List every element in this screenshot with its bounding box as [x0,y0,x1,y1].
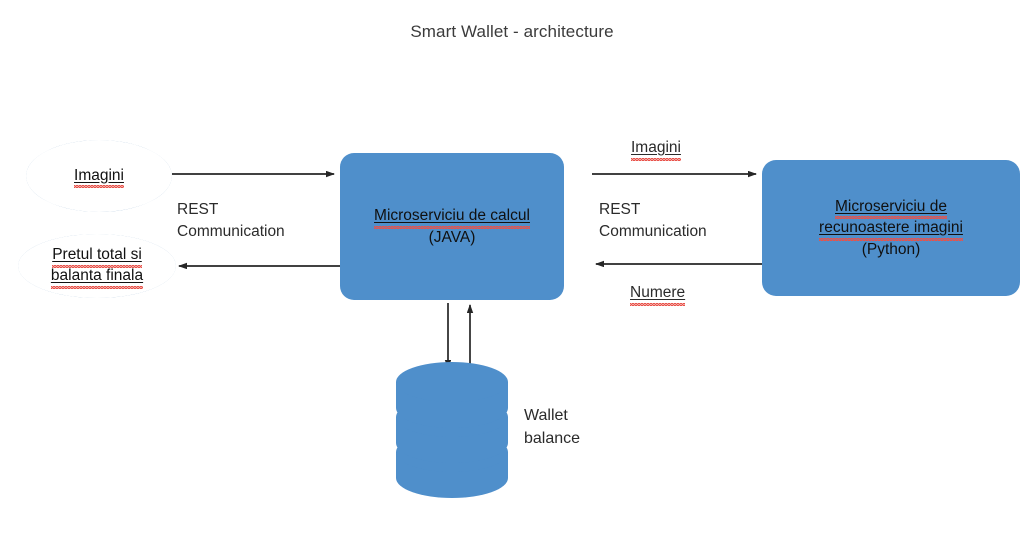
node-box-recognition-service[interactable]: Microserviciu de recunoastere imagini (P… [762,160,1020,296]
box-recog-label-line3: (Python) [862,241,921,258]
ellipse-input-label: Imagini [74,166,124,187]
database-cylinder-icon [396,362,508,498]
page-title: Smart Wallet - architecture [0,22,1024,42]
rest-left-line1: REST [177,199,285,221]
rest-right-line1: REST [599,199,707,221]
box-recog-label-line1: Microserviciu de [835,196,947,217]
node-ellipse-output[interactable]: Pretul total si balanta finala [18,234,176,298]
edge-label-numere: Numere [630,282,685,304]
edge-label-rest-communication-right: REST Communication [599,199,707,243]
box-calc-label-line1: Microserviciu de calcul [374,205,530,226]
rest-left-line2: Communication [177,221,285,243]
database-caption-line2: balance [524,427,580,450]
database-caption-line1: Wallet [524,404,580,427]
node-ellipse-input[interactable]: Imagini [26,140,172,212]
box-recog-label-line2: recunoastere imagini [819,217,963,238]
ellipse-output-label-line2: balanta finala [51,266,143,287]
box-calc-label-line2: (JAVA) [429,229,476,246]
edge-label-imagini-text: Imagini [631,137,681,159]
edge-label-rest-communication-left: REST Communication [177,199,285,243]
diagram-canvas: Smart Wallet - architecture [0,0,1024,536]
database-caption: Wallet balance [524,404,580,450]
ellipse-output-label-line1: Pretul total si [52,245,142,266]
edge-label-numere-text: Numere [630,282,685,304]
edge-label-imagini: Imagini [631,137,681,159]
node-box-calculation-service[interactable]: Microserviciu de calcul (JAVA) [340,153,564,300]
rest-right-line2: Communication [599,221,707,243]
